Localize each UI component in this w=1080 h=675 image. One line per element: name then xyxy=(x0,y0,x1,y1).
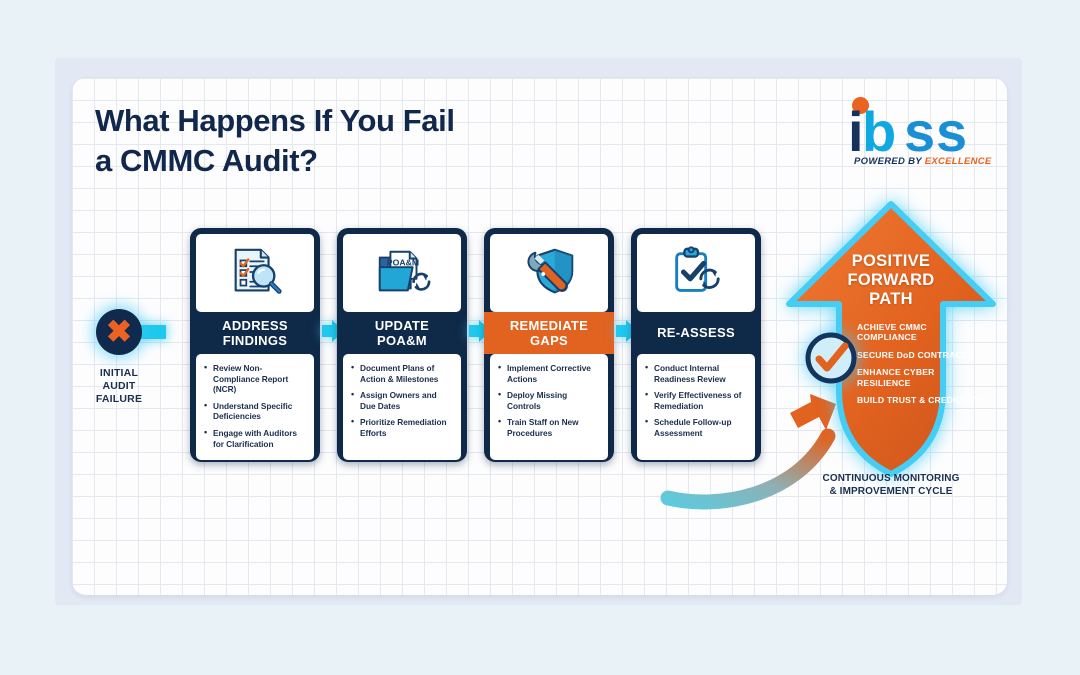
brand-logo: i b s s POWERED BY EXCELLENCE xyxy=(848,96,1000,176)
list-item: Implement Corrective Actions xyxy=(498,363,601,384)
wrench-shield-icon xyxy=(490,234,608,312)
step-title: ADDRESS FINDINGS xyxy=(196,312,314,354)
step-card-address-findings[interactable]: ADDRESS FINDINGS Review Non-Compliance R… xyxy=(190,228,320,462)
step-bullets: Review Non-Compliance Report (NCR) Under… xyxy=(196,354,314,460)
list-item: SECURE DoD CONTRACTS xyxy=(857,350,985,360)
step-title: REMEDIATE GAPS xyxy=(484,312,614,354)
logo-letter-s1: s xyxy=(904,104,932,160)
logo-letter-s2: s xyxy=(936,104,964,160)
step-title: RE-ASSESS xyxy=(637,312,755,354)
step-card-update-poam[interactable]: POA&M UPDATE POA&M Document Plans of Act… xyxy=(337,228,467,462)
clipboard-check-refresh-icon xyxy=(637,234,755,312)
list-item: ACHIEVE CMMC COMPLIANCE xyxy=(857,322,985,343)
outcome-benefits: ACHIEVE CMMC COMPLIANCE SECURE DoD CONTR… xyxy=(857,322,985,413)
list-item: Engage with Auditors for Clarification xyxy=(204,428,307,449)
initial-failure-node: ✖ INITIAL AUDIT FAILURE xyxy=(96,309,142,355)
list-item: Document Plans of Action & Milestones xyxy=(351,363,454,384)
failure-circle: ✖ xyxy=(96,309,142,355)
outcome-caption: CONTINUOUS MONITORING & IMPROVEMENT CYCL… xyxy=(783,472,999,498)
logo-letter-b: b xyxy=(862,104,893,160)
list-item: Train Staff on New Procedures xyxy=(498,417,601,438)
checklist-magnifier-icon xyxy=(196,234,314,312)
list-item: ENHANCE CYBER RESILIENCE xyxy=(857,367,985,388)
list-item: Understand Specific Deficiencies xyxy=(204,401,307,422)
start-connector-stem xyxy=(140,325,166,339)
outcome-title: POSITIVE FORWARD PATH xyxy=(783,252,999,308)
svg-text:POA&M: POA&M xyxy=(387,257,419,267)
list-item: Deploy Missing Controls xyxy=(498,390,601,411)
logo-tagline-accent: EXCELLENCE xyxy=(925,156,992,167)
list-item: Assign Owners and Due Dates xyxy=(351,390,454,411)
page-title: What Happens If You Fail a CMMC Audit? xyxy=(95,101,615,182)
step-title: UPDATE POA&M xyxy=(343,312,461,354)
logo-tagline-prefix: POWERED BY xyxy=(854,156,925,167)
logo-tagline: POWERED BY EXCELLENCE xyxy=(854,156,992,167)
poam-folder-refresh-icon: POA&M xyxy=(343,234,461,312)
initial-failure-label: INITIAL AUDIT FAILURE xyxy=(74,367,164,406)
x-mark-icon: ✖ xyxy=(96,309,142,355)
list-item: BUILD TRUST & CREDIBILITY xyxy=(857,395,985,405)
logo-wordmark: i b s s xyxy=(848,96,1000,152)
step-bullets: Document Plans of Action & Milestones As… xyxy=(343,354,461,460)
step-card-remediate-gaps[interactable]: REMEDIATE GAPS Implement Corrective Acti… xyxy=(484,228,614,462)
positive-forward-path-arrow: POSITIVE FORWARD PATH ACHIEVE CMMC COMPL… xyxy=(783,200,999,482)
list-item: Review Non-Compliance Report (NCR) xyxy=(204,363,307,395)
step-bullets: Implement Corrective Actions Deploy Miss… xyxy=(490,354,608,460)
list-item: Prioritize Remediation Efforts xyxy=(351,417,454,438)
logo-letter-i: i xyxy=(848,104,861,160)
